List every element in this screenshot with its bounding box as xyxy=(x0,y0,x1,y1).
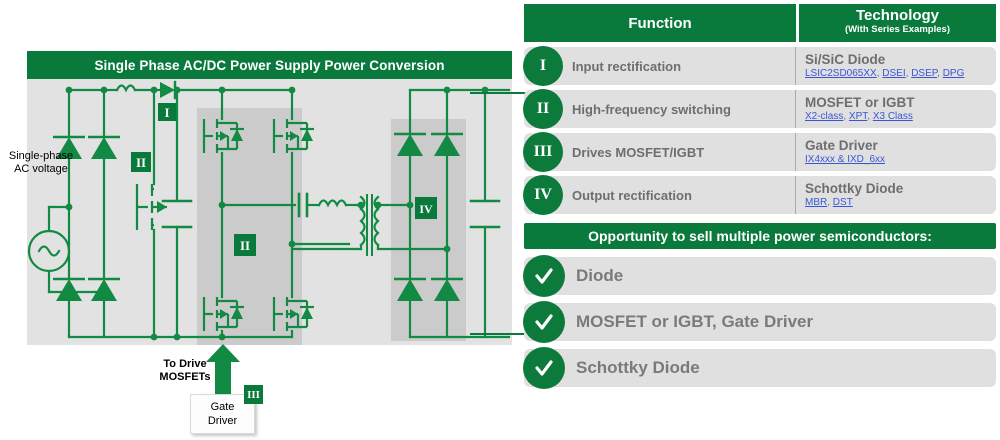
check-icon xyxy=(523,255,565,297)
technology-table-panel: Function Technology (With Series Example… xyxy=(524,4,996,436)
list-item[interactable]: Schottky Diode xyxy=(524,349,996,387)
to-drive-line2: MOSFETs xyxy=(159,371,210,383)
row-technology-series[interactable]: IX4xxx & IXD_6xx xyxy=(805,153,996,167)
row-numeral-badge: II xyxy=(523,89,563,129)
row-technology-series[interactable]: MBR, DST xyxy=(805,196,996,210)
gate-driver-line2: Driver xyxy=(208,414,237,428)
list-item-label: Schottky Diode xyxy=(576,358,700,378)
stage-badge-I: I xyxy=(158,103,176,121)
circuit-diagram-panel: Single Phase AC/DC Power Supply Power Co… xyxy=(27,51,512,345)
check-icon xyxy=(523,301,565,343)
series-link[interactable]: DPG xyxy=(943,68,965,79)
row-technology-name: Gate Driver xyxy=(805,138,996,153)
row-technology-series[interactable]: LSIC2SD065XX, DSEI, DSEP, DPG xyxy=(805,67,996,81)
row-function-label: Input rectification xyxy=(524,47,796,85)
table-row[interactable]: IV Output rectification Schottky Diode M… xyxy=(524,176,996,214)
series-link[interactable]: MBR xyxy=(805,197,827,208)
table-row[interactable]: III Drives MOSFET/IGBT Gate Driver IX4xx… xyxy=(524,133,996,171)
series-link[interactable]: LSIC2SD065XX xyxy=(805,68,877,79)
row-numeral-badge: I xyxy=(523,46,563,86)
to-drive-line1: To Drive xyxy=(163,358,206,370)
column-header-function: Function xyxy=(524,4,796,42)
series-link[interactable]: DSEI xyxy=(882,68,905,79)
row-technology-name: MOSFET or IGBT xyxy=(805,95,996,110)
list-item[interactable]: MOSFET or IGBT, Gate Driver xyxy=(524,303,996,341)
stage-badge-II-boost: II xyxy=(131,152,151,172)
svg-text:IV: IV xyxy=(419,202,433,216)
svg-text:I: I xyxy=(164,105,169,120)
row-numeral-badge: IV xyxy=(523,175,563,215)
series-link[interactable]: DST xyxy=(833,197,853,208)
check-icon xyxy=(523,347,565,389)
row-technology-series[interactable]: X2-class, XPT, X3 Class xyxy=(805,110,996,124)
series-link[interactable]: XPT xyxy=(849,111,867,122)
row-technology-cell: Si/SiC Diode LSIC2SD065XX, DSEI, DSEP, D… xyxy=(796,47,996,85)
series-link[interactable]: IX4xxx & IXD_6xx xyxy=(805,154,885,165)
series-link[interactable]: X3 Class xyxy=(873,111,913,122)
row-technology-name: Schottky Diode xyxy=(805,181,996,196)
table-header-row: Function Technology (With Series Example… xyxy=(524,4,996,42)
connector-line-bottom xyxy=(470,333,532,335)
row-numeral-badge: III xyxy=(523,132,563,172)
column-header-technology-sub: (With Series Examples) xyxy=(845,23,950,37)
diagram-title: Single Phase AC/DC Power Supply Power Co… xyxy=(27,51,512,79)
series-link[interactable]: X2-class xyxy=(805,111,843,122)
table-row[interactable]: I Input rectification Si/SiC Diode LSIC2… xyxy=(524,47,996,85)
list-item-label: MOSFET or IGBT, Gate Driver xyxy=(576,312,813,332)
row-technology-name: Si/SiC Diode xyxy=(805,52,996,67)
row-technology-cell: Gate Driver IX4xxx & IXD_6xx xyxy=(796,133,996,171)
column-header-technology-main: Technology xyxy=(856,9,939,23)
to-drive-mosfets-label: To Drive MOSFETs xyxy=(152,358,218,384)
gate-driver-line1: Gate xyxy=(211,400,235,414)
stage-badge-IV: IV xyxy=(415,197,437,219)
svg-text:II: II xyxy=(136,155,146,170)
ac-label-line2: AC voltage xyxy=(14,163,68,175)
connector-line-top xyxy=(470,92,530,94)
circuit-schematic: I II II IV xyxy=(27,79,512,345)
list-item[interactable]: Diode xyxy=(524,257,996,295)
list-item-label: Diode xyxy=(576,266,623,286)
row-technology-cell: Schottky Diode MBR, DST xyxy=(796,176,996,214)
ac-label-line1: Single-phase xyxy=(9,150,73,162)
opportunity-banner: Opportunity to sell multiple power semic… xyxy=(524,223,996,249)
column-header-technology: Technology (With Series Examples) xyxy=(799,4,996,42)
row-function-label: High-frequency switching xyxy=(524,90,796,128)
row-function-label: Output rectification xyxy=(524,176,796,214)
gate-driver-badge: III xyxy=(244,385,263,404)
row-function-label: Drives MOSFET/IGBT xyxy=(524,133,796,171)
row-technology-cell: MOSFET or IGBT X2-class, XPT, X3 Class xyxy=(796,90,996,128)
svg-text:II: II xyxy=(240,238,250,253)
series-link[interactable]: DSEP xyxy=(911,68,937,79)
ac-voltage-label: Single-phase AC voltage xyxy=(0,150,82,176)
stage-badge-II-bridge: II xyxy=(234,234,256,256)
table-row[interactable]: II High-frequency switching MOSFET or IG… xyxy=(524,90,996,128)
